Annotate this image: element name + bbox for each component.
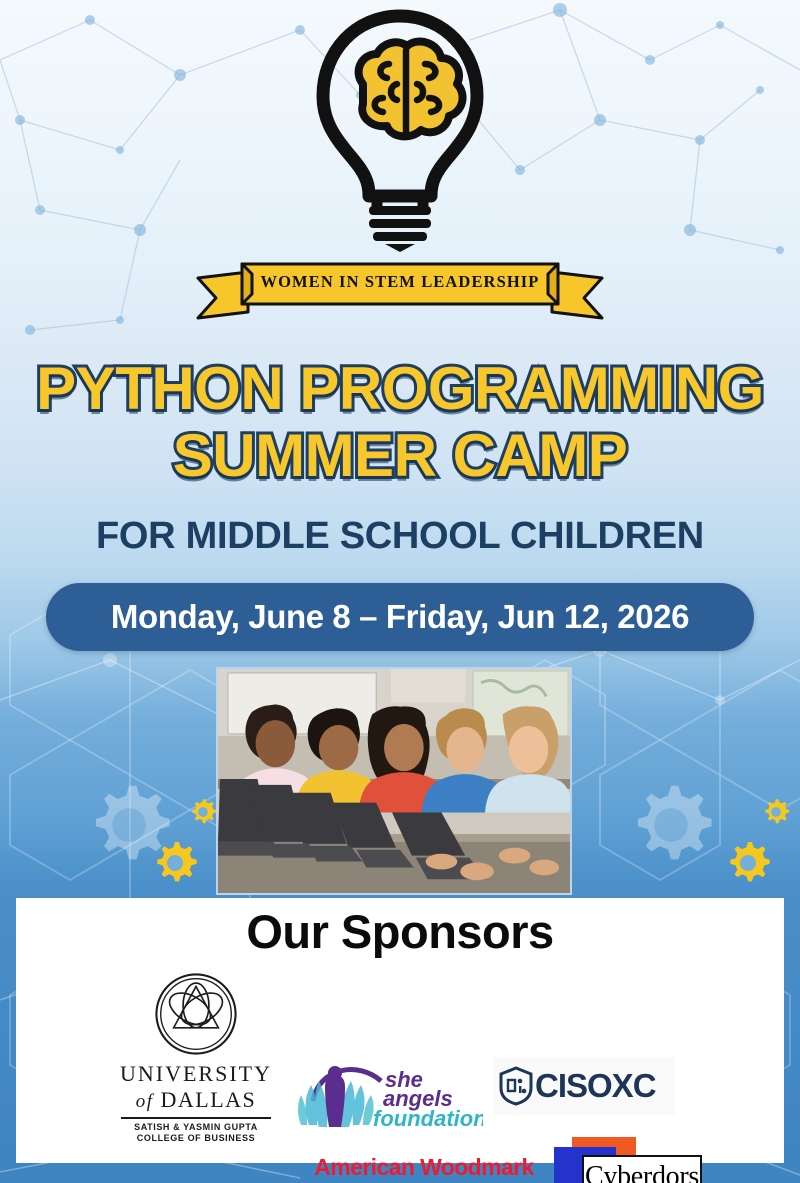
gear-icon [725, 840, 771, 886]
university-of-dallas-seal-icon [153, 971, 239, 1057]
ud-divider [121, 1117, 271, 1119]
ud-line-2: of DALLAS [101, 1087, 291, 1113]
ud-line-1: UNIVERSITY [101, 1061, 291, 1087]
subheadline: FOR MIDDLE SCHOOL CHILDREN [0, 515, 800, 558]
sponsors-title: Our Sponsors [16, 904, 784, 959]
ud-line-3: SATISH & YASMIN GUPTA [101, 1122, 291, 1133]
gear-icon [189, 798, 217, 826]
sponsors-logo-row: UNIVERSITY of DALLAS SATISH & YASMIN GUP… [16, 959, 784, 1159]
gear-icon [86, 782, 172, 868]
gear-icon [762, 798, 790, 826]
cyberdors-label-box: Cyberdors [582, 1155, 702, 1183]
date-banner-text: Monday, June 8 – Friday, Jun 12, 2026 [111, 598, 689, 636]
headline-line-2: SUMMER CAMP [0, 427, 800, 486]
gear-icon [628, 782, 714, 868]
cisoxc-text: CISOXC [535, 1067, 656, 1105]
sponsor-university-of-dallas: UNIVERSITY of DALLAS SATISH & YASMIN GUP… [101, 971, 291, 1145]
ud-line-2-dallas: DALLAS [161, 1087, 257, 1112]
flyer-poster: WOMEN IN STEM LEADERSHIP PYTHON PROGRAMM… [0, 0, 800, 1183]
date-banner: Monday, June 8 – Friday, Jun 12, 2026 [46, 583, 754, 651]
sponsors-panel: Our Sponsors UNIVERSITY of D [16, 898, 784, 1163]
sponsor-cisoxc: CISOXC [493, 1057, 675, 1115]
headline-line-1: PYTHON PROGRAMMING [36, 355, 764, 422]
ud-line-2-of: of [136, 1091, 154, 1112]
sponsor-american-woodmark: American Woodmark [304, 1154, 544, 1181]
ud-line-4: COLLEGE OF BUSINESS [101, 1133, 291, 1144]
children-at-laptops-photo [216, 667, 572, 895]
shield-icon [499, 1066, 533, 1106]
cyberdors-text: Cyberdors [585, 1161, 699, 1183]
lightbulb-brain-icon [0, 6, 800, 256]
page-title: PYTHON PROGRAMMING SUMMER CAMP [0, 360, 800, 486]
sponsor-cyberdors: Cyberdors [544, 1137, 704, 1183]
sponsor-she-angels-foundation: she angels foundation [297, 1055, 487, 1131]
sa-word-foundation: foundation [373, 1106, 483, 1131]
ribbon-text: WOMEN IN STEM LEADERSHIP [0, 272, 800, 292]
